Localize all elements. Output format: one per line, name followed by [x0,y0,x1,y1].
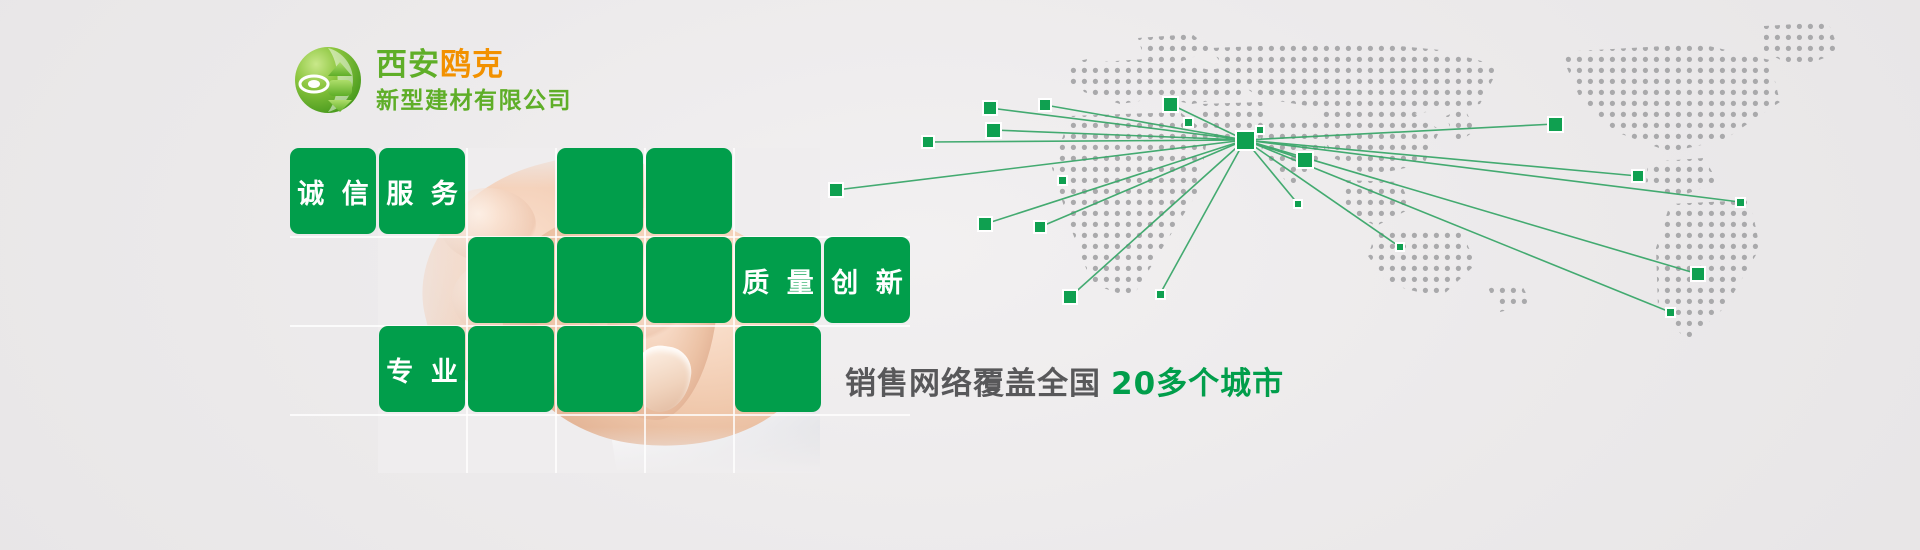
tile-integrity-label: 诚 信 [293,172,372,211]
tagline-highlight: 20多个城市 [1111,366,1284,402]
tile-professional-label: 专 业 [382,350,461,389]
tile-blank-r3c3[interactable] [557,326,643,412]
tile-service-label: 服 务 [382,172,461,211]
logo-line-2: 新型建材有限公司 [376,90,572,113]
value-tile-grid: 诚 信 服 务 质 量 创 新 专 业 [290,148,910,473]
tile-blank-r2c2[interactable] [468,237,554,323]
tile-innovation[interactable]: 创 新 [824,237,910,323]
tile-blank-r2c4[interactable] [646,237,732,323]
tile-integrity[interactable]: 诚 信 [290,148,376,234]
tile-service[interactable]: 服 务 [379,148,465,234]
tile-blank-r3c4[interactable] [735,326,821,412]
logo-line-1: 西安鸥克 [376,50,572,81]
world-network-map [740,12,1920,372]
tile-innovation-label: 创 新 [827,261,906,300]
logo-text-block: 西安鸥克 新型建材有限公司 [376,48,572,113]
hero-banner: 西安鸥克 新型建材有限公司 [0,0,1920,550]
tile-quality[interactable]: 质 量 [735,237,821,323]
tile-blank-r3c2[interactable] [468,326,554,412]
sales-network-tagline: 销售网络覆盖全国20多个城市 [845,358,1284,403]
logo-city: 西安 [376,47,440,83]
tile-professional[interactable]: 专 业 [379,326,465,412]
tile-blank-r1c4[interactable] [646,148,732,234]
world-map-svg [740,12,1920,372]
map-dot-field [740,12,1920,372]
globe-leaf-logo-icon [292,44,364,116]
tile-blank-r1c3[interactable] [557,148,643,234]
tile-blank-r2c3[interactable] [557,237,643,323]
tagline-prefix: 销售网络覆盖全国 [845,366,1101,402]
logo-brand: 鸥克 [440,47,504,83]
tile-quality-label: 质 量 [738,261,817,300]
company-logo[interactable]: 西安鸥克 新型建材有限公司 [292,44,572,116]
